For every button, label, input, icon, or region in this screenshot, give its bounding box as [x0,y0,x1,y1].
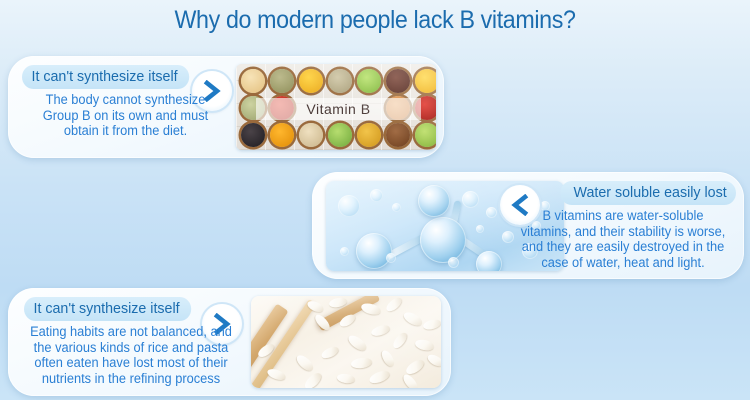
vitamin-b-overlay-text: Vitamin B [306,101,370,117]
card-2-text-column: Water soluble easily lost B vitamins are… [508,172,738,270]
card-1-heading-row: It can't synthesize itself [22,65,233,91]
card-2-inner: Water soluble easily lost B vitamins are… [312,172,744,279]
card-2-heading: Water soluble easily lost [560,181,736,205]
card-3-heading: It can't synthesize itself [24,297,191,321]
card-1-image: Vitamin B [236,64,436,150]
info-card-3[interactable]: It can't synthesize itself Eating habits… [8,288,451,396]
card-1-body: The body cannot synthesize Group B on it… [23,91,227,139]
info-card-2[interactable]: Water soluble easily lost B vitamins are… [312,172,744,279]
card-1-heading: It can't synthesize itself [22,65,189,89]
card-3-image [251,296,441,388]
card-3-text-column: It can't synthesize itself Eating habits… [20,288,242,386]
page-title: Why do modern people lack B vitamins? [26,6,724,35]
card-1-inner: Vitamin B It can't synthesize itself The… [8,56,444,158]
food-bowls-grid: Vitamin B [236,64,436,150]
card-3-heading-row: It can't synthesize itself [24,297,242,323]
info-card-1[interactable]: Vitamin B It can't synthesize itself The… [8,56,444,158]
infographic-canvas: Why do modern people lack B vitamins? [0,0,750,400]
card-2-heading-row: Water soluble easily lost [508,181,736,207]
vitamin-b-overlay-label: Vitamin B [256,98,421,120]
card-1-text-column: It can't synthesize itself The body cann… [18,56,233,139]
card-3-inner: It can't synthesize itself Eating habits… [8,288,451,396]
rice-illustration [251,296,441,388]
card-3-body: Eating habits are not balanced, and the … [26,323,237,386]
card-2-body: B vitamins are water-soluble vitamins, a… [514,207,733,270]
